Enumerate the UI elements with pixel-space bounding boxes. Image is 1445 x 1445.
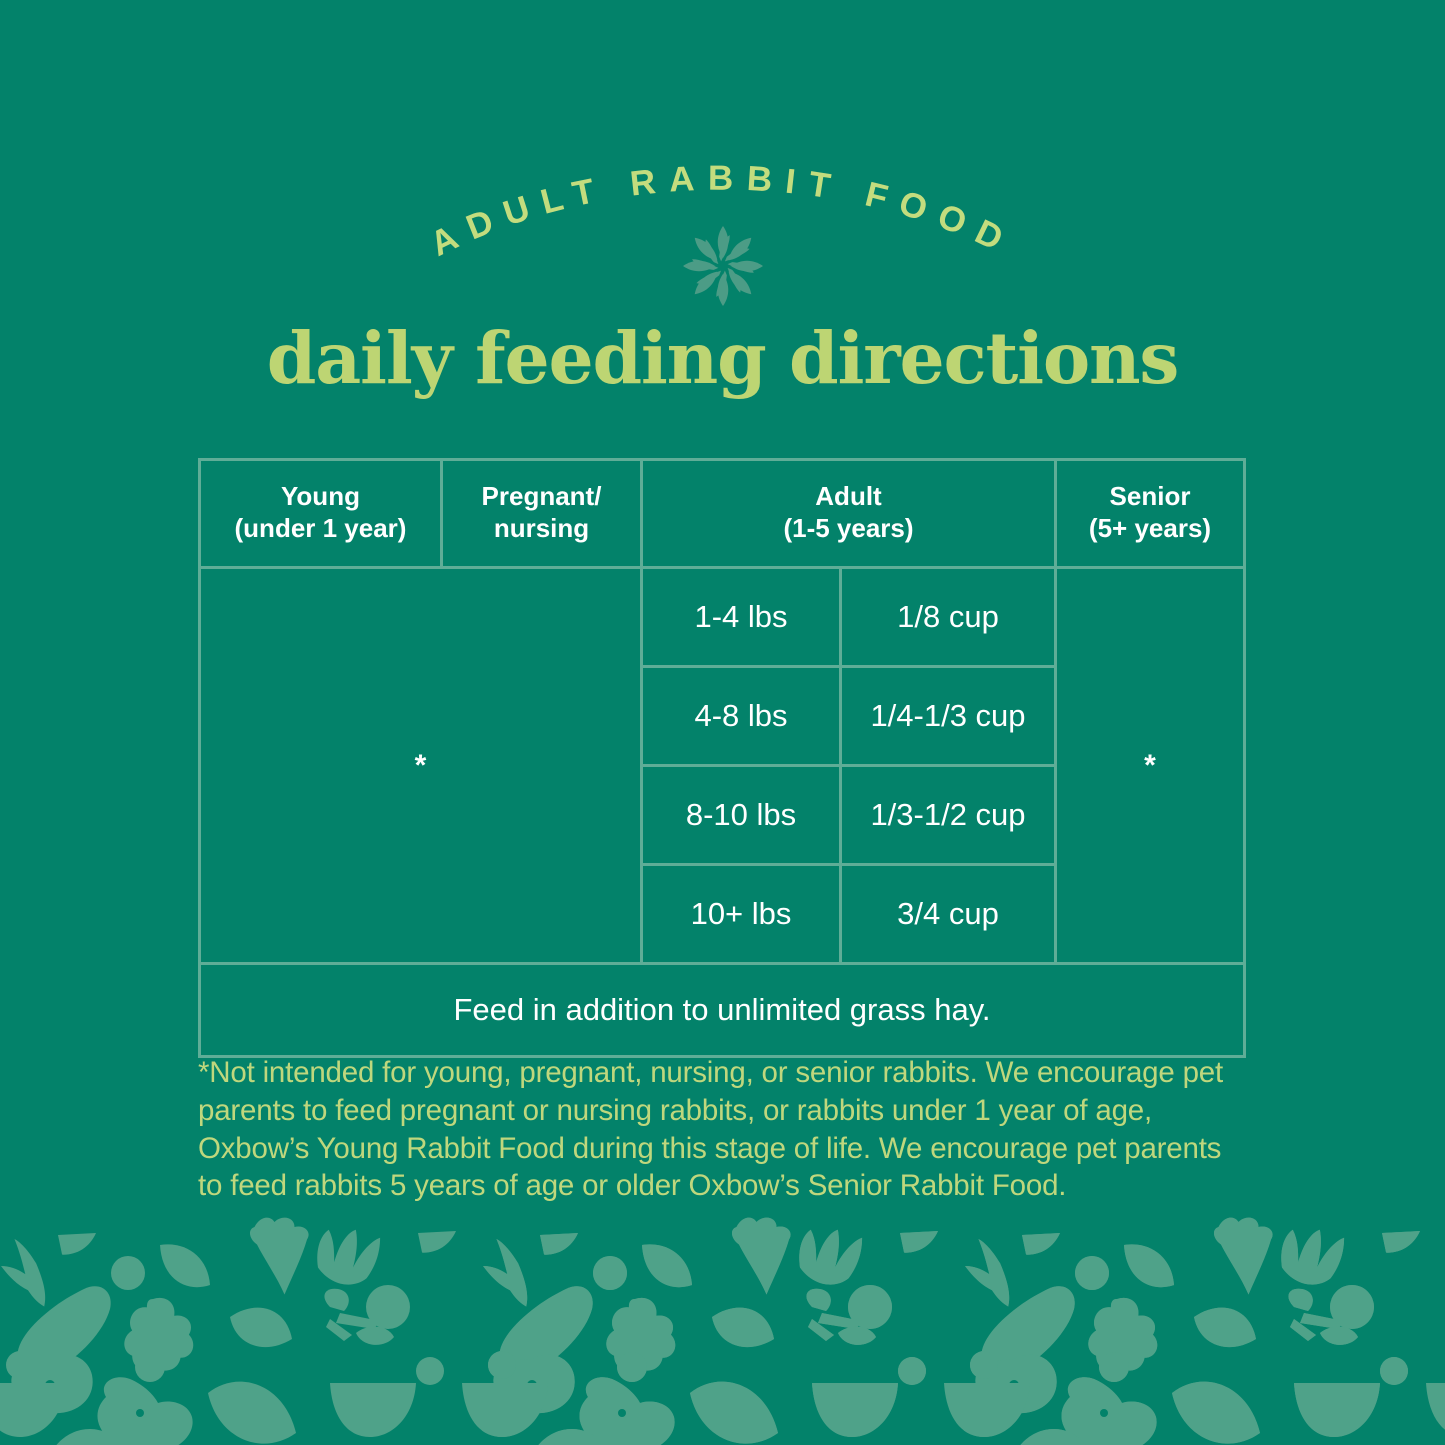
header-adult-line1: Adult [649,481,1048,513]
adult-amount: 3/4 cup [842,866,1054,962]
adult-weight: 4-8 lbs [643,668,842,764]
header-young: Young (under 1 year) [201,461,443,566]
table-row: 8-10 lbs 1/3-1/2 cup [643,767,1054,866]
header-senior-line1: Senior [1063,481,1237,513]
header-young-line2: (under 1 year) [207,513,434,545]
adult-weight: 10+ lbs [643,866,842,962]
header-pregnant-line1: Pregnant/ [449,481,634,513]
header-pregnant-nursing: Pregnant/ nursing [443,461,643,566]
adult-weight: 1-4 lbs [643,569,842,665]
header-adult: Adult (1-5 years) [643,461,1057,566]
table-header-row: Young (under 1 year) Pregnant/ nursing A… [201,461,1243,569]
adult-weight-amount-group: 1-4 lbs 1/8 cup 4-8 lbs 1/4-1/3 cup 8-10… [643,569,1057,962]
adult-amount: 1/4-1/3 cup [842,668,1054,764]
table-row: 4-8 lbs 1/4-1/3 cup [643,668,1054,767]
table-body-row: * 1-4 lbs 1/8 cup 4-8 lbs 1/4-1/3 cup 8-… [201,569,1243,962]
header-pregnant-line2: nursing [449,513,634,545]
adult-amount: 1/8 cup [842,569,1054,665]
rosette-flower-icon [671,214,775,318]
page-title: daily feeding directions [0,316,1445,400]
disclaimer-text: *Not intended for young, pregnant, nursi… [198,1054,1250,1205]
header-young-line1: Young [207,481,434,513]
table-row: 1-4 lbs 1/8 cup [643,569,1054,668]
botanical-pattern-band [0,1215,1445,1445]
cell-young-pregnant-asterisk: * [201,569,643,962]
header-adult-line2: (1-5 years) [649,513,1048,545]
header-senior: Senior (5+ years) [1057,461,1243,566]
table-row: 10+ lbs 3/4 cup [643,866,1054,962]
header-senior-line2: (5+ years) [1063,513,1237,545]
table-footer-note: Feed in addition to unlimited grass hay. [201,962,1243,1055]
daily-feeding-table: Young (under 1 year) Pregnant/ nursing A… [198,458,1246,1058]
cell-senior-asterisk: * [1057,569,1243,962]
adult-amount: 1/3-1/2 cup [842,767,1054,863]
adult-weight: 8-10 lbs [643,767,842,863]
